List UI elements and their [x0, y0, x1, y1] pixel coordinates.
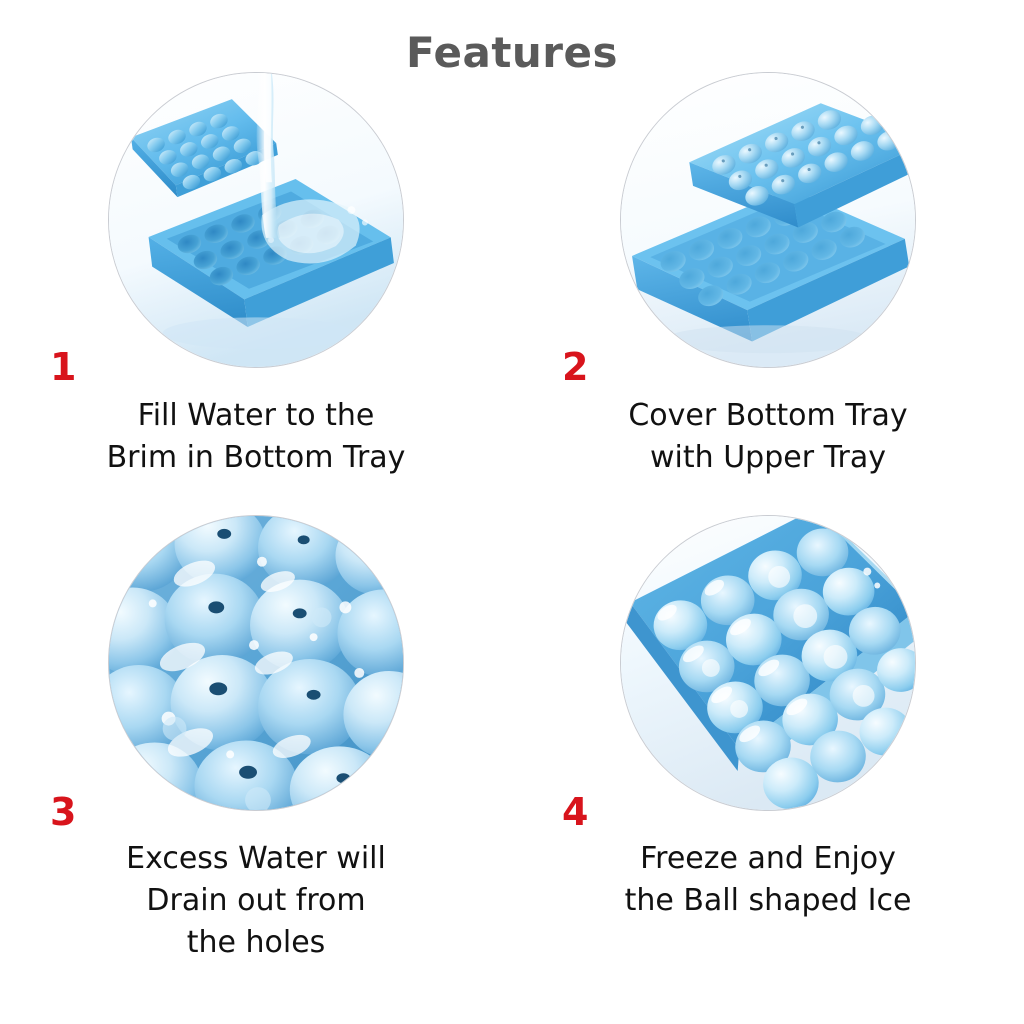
caption-line: Brim in Bottom Tray [0, 437, 512, 479]
feature-caption-2: Cover Bottom Tray with Upper Tray [512, 395, 1024, 479]
water-draining-through-holes-photo [109, 516, 403, 810]
step-number-4: 4 [562, 793, 588, 831]
caption-line: Excess Water will [0, 838, 512, 880]
caption-line: Fill Water to the [0, 395, 512, 437]
feature-panel-3: 3 Excess Water will Drain out from the h… [0, 503, 512, 943]
step-number-1: 1 [50, 348, 76, 386]
feature-caption-1: Fill Water to the Brim in Bottom Tray [0, 395, 512, 479]
caption-line: the Ball shaped Ice [512, 880, 1024, 922]
caption-line: with Upper Tray [512, 437, 1024, 479]
pouring-water-into-bottom-tray-photo [109, 73, 403, 367]
caption-line: Cover Bottom Tray [512, 395, 1024, 437]
feature-image-2 [620, 72, 916, 368]
caption-line: the holes [0, 922, 512, 964]
step-number-2: 2 [562, 348, 588, 386]
feature-image-3 [108, 515, 404, 811]
feature-panel-4: 4 Freeze and Enjoy the Ball shaped Ice [512, 503, 1024, 943]
feature-caption-3: Excess Water will Drain out from the hol… [0, 838, 512, 964]
frozen-ice-balls-in-tray-photo [621, 516, 915, 810]
covering-tray-with-upper-tray-photo [621, 73, 915, 367]
step-number-3: 3 [50, 793, 76, 831]
feature-panel-1: 1 Fill Water to the Brim in Bottom Tray [0, 60, 512, 500]
feature-caption-4: Freeze and Enjoy the Ball shaped Ice [512, 838, 1024, 922]
caption-line: Drain out from [0, 880, 512, 922]
feature-image-1 [108, 72, 404, 368]
feature-image-4 [620, 515, 916, 811]
feature-panel-2: 2 Cover Bottom Tray with Upper Tray [512, 60, 1024, 500]
features-grid: 1 Fill Water to the Brim in Bottom Tray [0, 60, 1024, 1024]
caption-line: Freeze and Enjoy [512, 838, 1024, 880]
